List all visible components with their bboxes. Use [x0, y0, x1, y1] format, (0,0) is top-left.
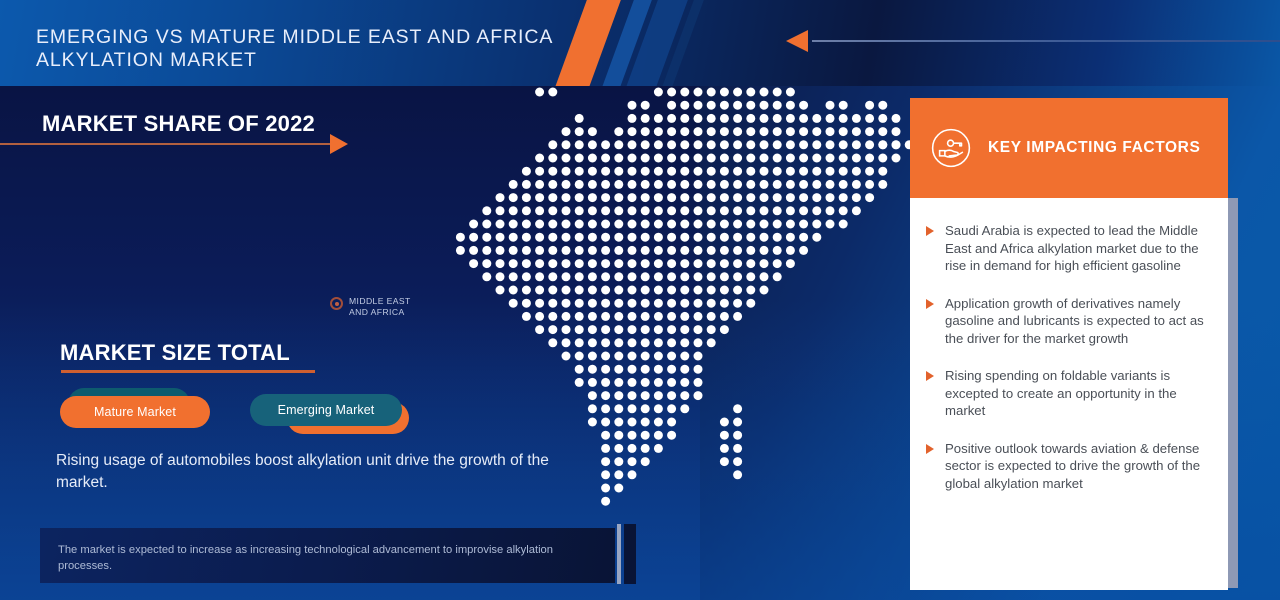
emerging-market-pill-label: Emerging Market — [278, 403, 375, 417]
map-legend: MIDDLE EAST AND AFRICA — [330, 296, 411, 318]
key-factor-text: Saudi Arabia is expected to lead the Mid… — [945, 222, 1210, 275]
key-factors-list: Saudi Arabia is expected to lead the Mid… — [910, 198, 1228, 492]
footer-divider-dark — [624, 524, 636, 584]
emerging-market-pill[interactable]: Emerging Market — [250, 394, 402, 426]
key-factors-card-shadow — [1228, 198, 1238, 588]
key-factors-card: KEY IMPACTING FACTORS Saudi Arabia is ex… — [910, 98, 1228, 590]
key-factors-header: KEY IMPACTING FACTORS — [910, 98, 1228, 198]
market-size-underline — [61, 370, 315, 373]
hand-holding-key-icon — [930, 127, 972, 169]
triangle-right-icon — [926, 299, 934, 348]
key-factor-item: Saudi Arabia is expected to lead the Mid… — [926, 222, 1210, 275]
arrow-left-icon — [786, 30, 808, 52]
market-size-description: Rising usage of automobiles boost alkyla… — [56, 450, 556, 494]
market-size-title: MARKET SIZE TOTAL — [60, 340, 290, 366]
triangle-right-icon — [926, 371, 934, 420]
mature-market-pill[interactable]: Mature Market — [60, 396, 210, 428]
market-share-title: MARKET SHARE OF 2022 — [42, 111, 315, 137]
infographic-canvas: EMERGING VS MATURE MIDDLE EAST AND AFRIC… — [0, 0, 1280, 600]
key-factor-item: Rising spending on foldable variants is … — [926, 367, 1210, 420]
header-band: EMERGING VS MATURE MIDDLE EAST AND AFRIC… — [0, 0, 1280, 86]
footer-text: The market is expected to increase as in… — [58, 542, 603, 574]
market-share-arrow-line — [0, 143, 330, 145]
arrow-right-icon — [330, 134, 348, 154]
key-factor-text: Positive outlook towards aviation & defe… — [945, 440, 1210, 493]
key-factor-text: Application growth of derivatives namely… — [945, 295, 1210, 348]
key-factor-item: Positive outlook towards aviation & defe… — [926, 440, 1210, 493]
page-title: EMERGING VS MATURE MIDDLE EAST AND AFRIC… — [36, 26, 596, 72]
triangle-right-icon — [926, 444, 934, 493]
key-factors-title: KEY IMPACTING FACTORS — [988, 139, 1200, 157]
target-circle-icon — [330, 297, 343, 310]
key-factor-item: Application growth of derivatives namely… — [926, 295, 1210, 348]
mature-market-pill-label: Mature Market — [94, 405, 176, 419]
footer-divider-light — [617, 524, 621, 584]
map-legend-label: MIDDLE EAST AND AFRICA — [349, 296, 411, 318]
market-pill-group: Mature Market Emerging Market — [60, 388, 460, 440]
header-arrow-line — [812, 40, 1280, 42]
footer-box: The market is expected to increase as in… — [40, 528, 615, 583]
key-factor-text: Rising spending on foldable variants is … — [945, 367, 1210, 420]
triangle-right-icon — [926, 226, 934, 275]
